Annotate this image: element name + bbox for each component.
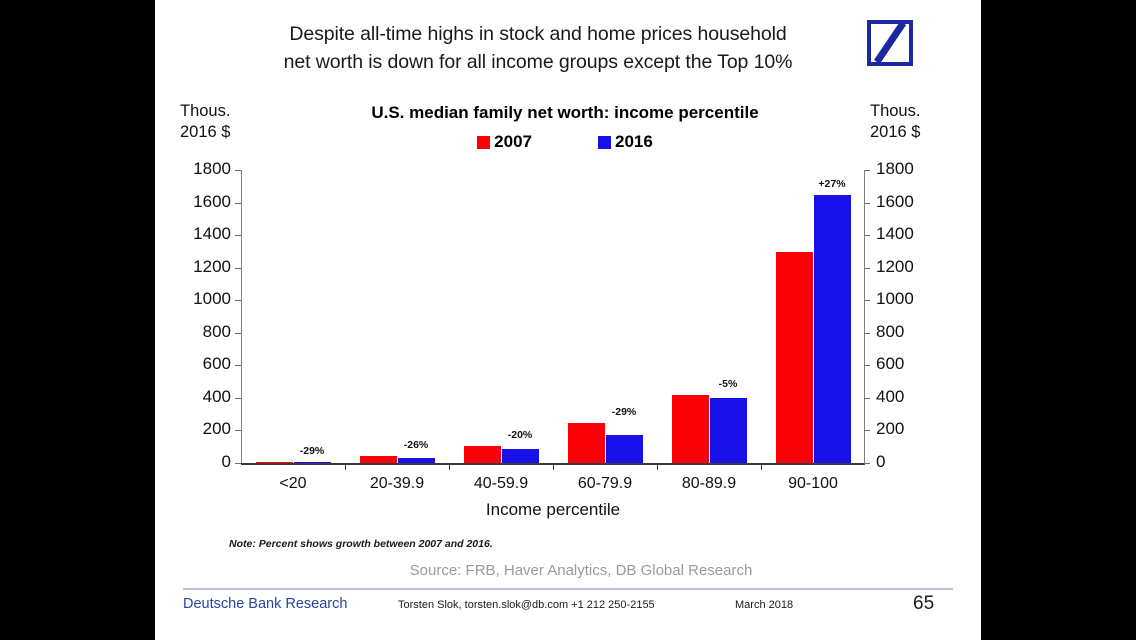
x-axis-category-separator	[449, 463, 450, 470]
bar-2016	[294, 462, 331, 463]
y-axis-label-left: 400	[203, 387, 231, 407]
bar-2007	[256, 462, 293, 463]
y-axis-label-left: 1200	[193, 257, 231, 277]
y-axis-label-right: 1800	[876, 159, 914, 179]
footer-divider	[183, 588, 953, 590]
x-axis-category-separator	[761, 463, 762, 470]
bar-2007	[776, 252, 813, 463]
y-axis-label-right: 0	[876, 452, 885, 472]
y-axis-label-right: 1200	[876, 257, 914, 277]
y-axis-label-left: 200	[203, 419, 231, 439]
chart-title: U.S. median family net worth: income per…	[255, 103, 875, 123]
x-axis-category-separator	[553, 463, 554, 470]
x-axis-category-label: 20-39.9	[345, 475, 449, 493]
legend-swatch-2016	[598, 136, 611, 149]
legend-label-2007: 2007	[494, 132, 532, 152]
bar-growth-label: -29%	[284, 445, 340, 457]
legend-item-2007: 2007	[477, 132, 532, 152]
bar-2007	[464, 446, 501, 463]
y-axis-label-right: 600	[876, 354, 904, 374]
bar-2016	[398, 458, 435, 463]
y-axis-label-right: 1000	[876, 289, 914, 309]
bar-2007	[360, 456, 397, 463]
left-axis-unit-line-2: 2016 $	[180, 122, 265, 143]
y-axis-label-right: 1400	[876, 224, 914, 244]
bar-growth-label: -20%	[492, 429, 548, 441]
x-axis-category-label: 80-89.9	[657, 475, 761, 493]
right-axis-unit-line-1: Thous.	[870, 101, 960, 122]
y-axis-label-left: 1400	[193, 224, 231, 244]
bar-group: -29%	[241, 170, 345, 463]
x-axis-category-label: <20	[241, 475, 345, 493]
y-axis-label-left: 1600	[193, 192, 231, 212]
y-tick-right	[864, 463, 870, 464]
x-axis-category-label: 90-100	[761, 475, 865, 493]
footer-page-number: 65	[913, 593, 934, 615]
x-axis-category-label: 60-79.9	[553, 475, 657, 493]
x-axis-title: Income percentile	[241, 500, 865, 520]
slide-canvas: Despite all-time highs in stock and home…	[155, 0, 981, 640]
bar-growth-label: -29%	[596, 406, 652, 418]
y-axis-label-right: 200	[876, 419, 904, 439]
bar-group: -20%	[449, 170, 553, 463]
bar-2007	[672, 395, 709, 463]
x-axis-tick-labels: <2020-39.940-59.960-79.980-89.990-100	[241, 475, 865, 497]
x-axis-category-label: 40-59.9	[449, 475, 553, 493]
right-axis-unit-line-2: 2016 $	[870, 122, 960, 143]
bar-2007	[568, 423, 605, 463]
y-axis-label-right: 1600	[876, 192, 914, 212]
deutsche-bank-logo-icon	[867, 20, 913, 66]
right-axis-unit-label: Thous. 2016 $	[870, 101, 960, 143]
headline-line-1: Despite all-time highs in stock and home…	[193, 20, 883, 48]
bar-2016	[710, 398, 747, 463]
logo-slash-icon	[871, 24, 909, 62]
slide-footer: Deutsche Bank Research Torsten Slok, tor…	[155, 592, 981, 622]
bar-group: +27%	[761, 170, 865, 463]
bar-growth-label: +27%	[804, 178, 860, 190]
legend-swatch-2007	[477, 136, 490, 149]
x-axis-category-separator	[345, 463, 346, 470]
left-axis-unit-label: Thous. 2016 $	[180, 101, 265, 143]
bar-growth-label: -5%	[700, 378, 756, 390]
y-axis-label-right: 400	[876, 387, 904, 407]
bar-2016	[814, 195, 851, 463]
y-axis-label-left: 800	[203, 322, 231, 342]
headline-line-2: net worth is down for all income groups …	[193, 48, 883, 76]
y-axis-label-right: 800	[876, 322, 904, 342]
slide-headline: Despite all-time highs in stock and home…	[193, 20, 883, 76]
bar-2016	[606, 435, 643, 463]
legend-item-2016: 2016	[598, 132, 653, 152]
footer-contact: Torsten Slok, torsten.slok@db.com +1 212…	[398, 599, 655, 611]
chart-legend: 2007 2016	[255, 132, 875, 152]
footer-brand: Deutsche Bank Research	[183, 596, 347, 612]
y-axis-label-left: 600	[203, 354, 231, 374]
y-axis-label-left: 1000	[193, 289, 231, 309]
x-axis-category-separator	[657, 463, 658, 470]
chart-source: Source: FRB, Haver Analytics, DB Global …	[241, 562, 921, 579]
bar-group: -29%	[553, 170, 657, 463]
plot-area: 0020020040040060060080080010001000120012…	[241, 170, 865, 463]
bar-2016	[502, 449, 539, 463]
legend-label-2016: 2016	[615, 132, 653, 152]
chart-note: Note: Percent shows growth between 2007 …	[229, 538, 493, 550]
left-axis-unit-line-1: Thous.	[180, 101, 265, 122]
y-tick-left	[235, 463, 241, 464]
bar-growth-label: -26%	[388, 439, 444, 451]
y-axis-label-left: 0	[222, 452, 231, 472]
footer-date: March 2018	[735, 599, 793, 611]
bar-group: -5%	[657, 170, 761, 463]
y-axis-label-left: 1800	[193, 159, 231, 179]
bar-group: -26%	[345, 170, 449, 463]
